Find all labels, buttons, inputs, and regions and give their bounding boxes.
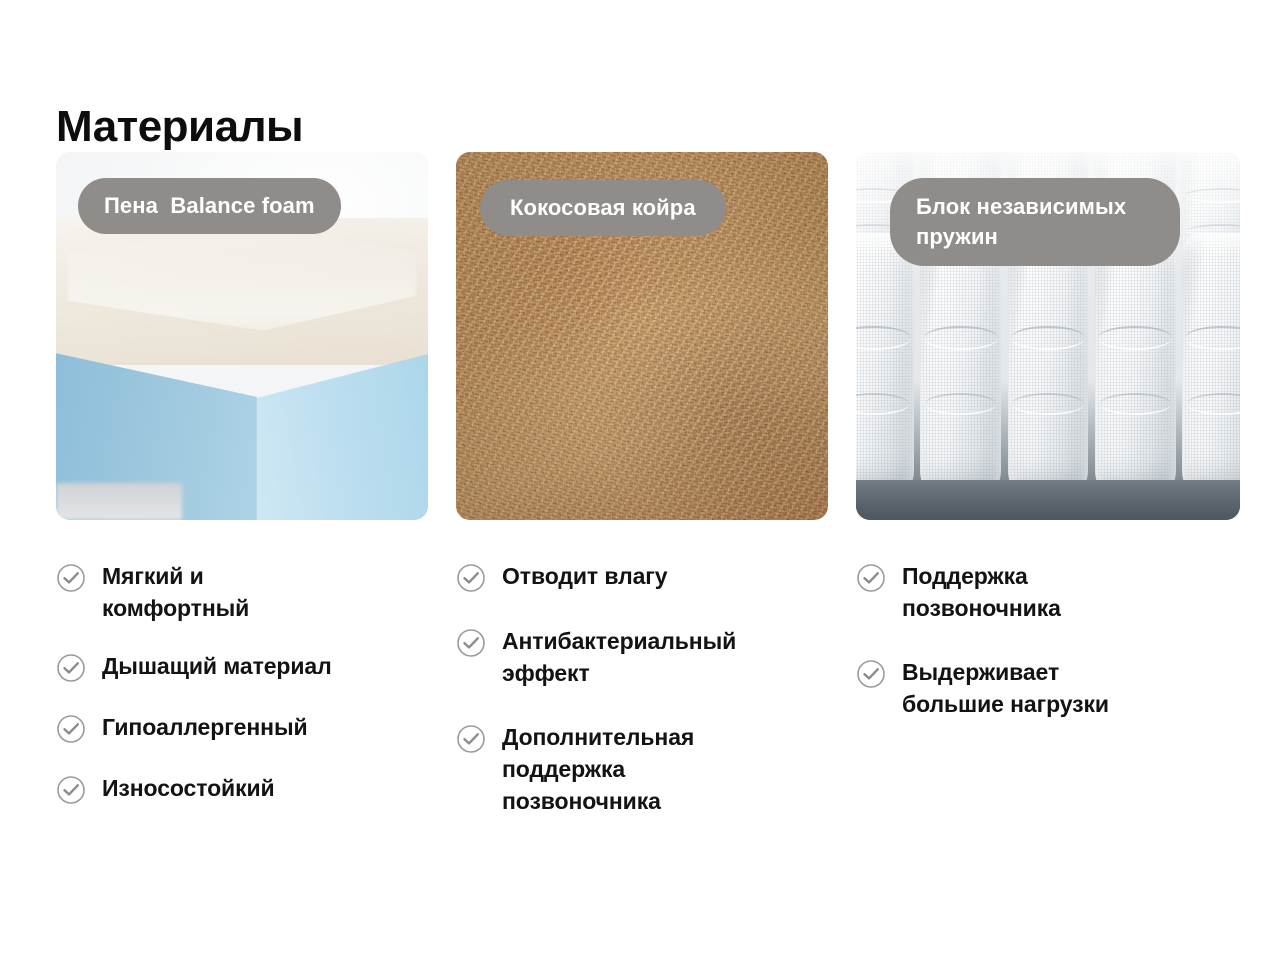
feature-label: Поддержка позвоночника bbox=[902, 560, 1061, 624]
feature-item: Выдерживает большие нагрузки bbox=[856, 656, 1240, 720]
feature-label: Антибактериальный эффект bbox=[502, 625, 736, 689]
page-title: Материалы bbox=[56, 101, 303, 153]
card-badge-foam: Пена Balance foam bbox=[78, 178, 341, 234]
feature-item: Мягкий и комфортный bbox=[56, 560, 428, 624]
feature-label: Дополнительная поддержка позвоночника bbox=[502, 721, 694, 817]
feature-label: Мягкий и комфортный bbox=[102, 560, 249, 624]
feature-item: Дополнительная поддержка позвоночника bbox=[456, 721, 828, 817]
feature-item: Износостойкий bbox=[56, 772, 428, 805]
feature-label: Износостойкий bbox=[102, 772, 275, 804]
feature-label: Дышащий материал bbox=[102, 650, 332, 682]
material-card-foam[interactable]: Пена Balance foam bbox=[56, 152, 428, 520]
check-circle-icon bbox=[456, 563, 486, 593]
feature-column-coir: Отводит влагу Антибактериальный эффект Д… bbox=[456, 560, 828, 839]
feature-label: Выдерживает большие нагрузки bbox=[902, 656, 1109, 720]
feature-item: Поддержка позвоночника bbox=[856, 560, 1240, 624]
feature-item: Антибактериальный эффект bbox=[456, 625, 828, 689]
feature-label: Гипоаллергенный bbox=[102, 711, 308, 743]
card-badge-springs: Блок независимых пружин bbox=[890, 178, 1180, 266]
check-circle-icon bbox=[56, 563, 86, 593]
feature-item: Отводит влагу bbox=[456, 560, 828, 593]
feature-column-springs: Поддержка позвоночника Выдерживает больш… bbox=[856, 560, 1240, 839]
material-cards-row: Пена Balance foam Кокосовая койра bbox=[56, 152, 1240, 520]
feature-column-foam: Мягкий и комфортный Дышащий материал Гип… bbox=[56, 560, 428, 839]
card-badge-coir: Кокосовая койра bbox=[480, 180, 726, 236]
material-card-coir[interactable]: Кокосовая койра bbox=[456, 152, 828, 520]
feature-columns: Мягкий и комфортный Дышащий материал Гип… bbox=[56, 560, 1246, 839]
feature-item: Дышащий материал bbox=[56, 650, 428, 683]
feature-label: Отводит влагу bbox=[502, 560, 667, 592]
slide-root: Материалы Пена Balance foam Кокосовая ко… bbox=[0, 0, 1280, 960]
check-circle-icon bbox=[856, 659, 886, 689]
check-circle-icon bbox=[456, 628, 486, 658]
check-circle-icon bbox=[56, 653, 86, 683]
check-circle-icon bbox=[456, 724, 486, 754]
foam-floor-shadow bbox=[56, 483, 182, 520]
check-circle-icon bbox=[856, 563, 886, 593]
check-circle-icon bbox=[56, 775, 86, 805]
feature-item: Гипоаллергенный bbox=[56, 711, 428, 744]
material-card-springs[interactable]: Блок независимых пружин bbox=[856, 152, 1240, 520]
check-circle-icon bbox=[56, 714, 86, 744]
